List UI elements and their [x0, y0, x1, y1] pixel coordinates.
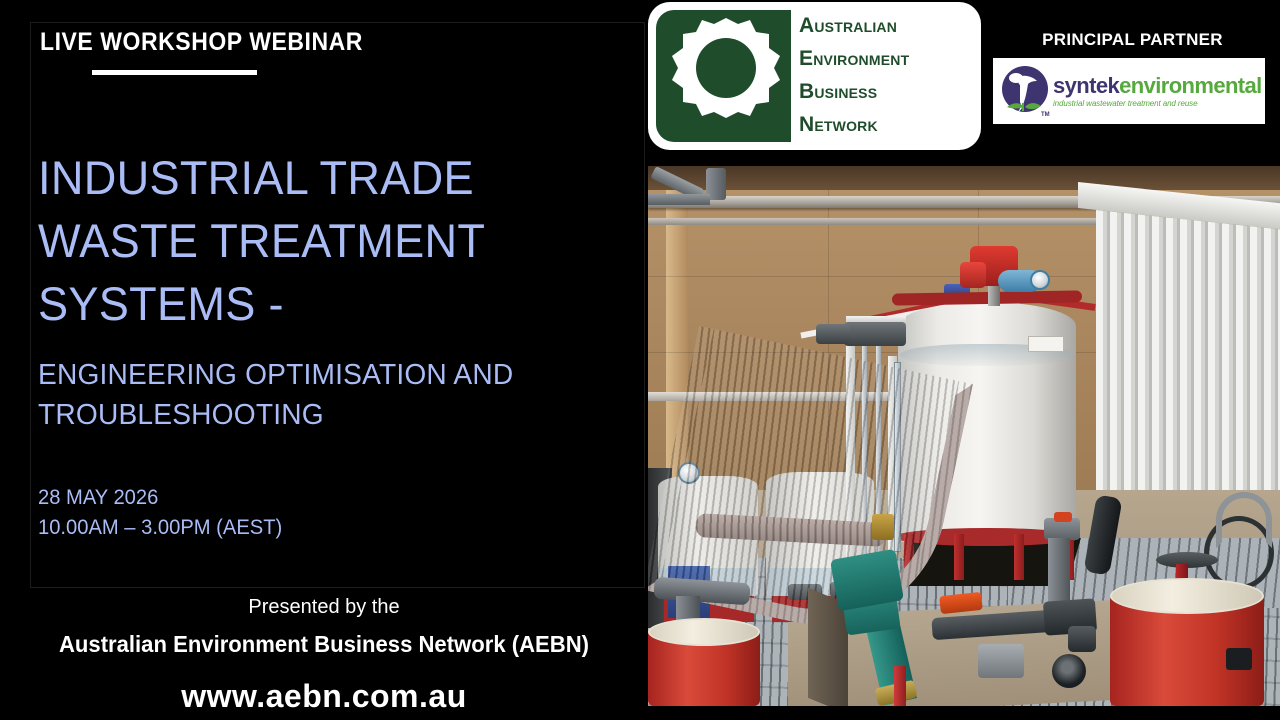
photo-valve-stand — [978, 644, 1024, 678]
aebn-word-environment: ENVIRONMENT — [799, 43, 973, 76]
trademark-mark: TM — [1041, 112, 1050, 118]
syntek-word-syntek: syntek — [1053, 73, 1119, 98]
aebn-rest-business: USINESS — [814, 85, 877, 101]
aebn-cap-b: B — [799, 80, 814, 103]
kicker-underline-rule — [92, 70, 257, 75]
photo-barrel-lid — [1110, 578, 1264, 614]
aebn-logo: AUSTRALIAN ENVIRONMENT BUSINESS NETWORK — [648, 2, 981, 150]
syntek-environmental-logo: TM syntekenvironmental industrial wastew… — [993, 58, 1265, 124]
gear-icon — [670, 12, 782, 142]
aebn-word-business: BUSINESS — [799, 76, 973, 109]
photo-manifold-valve — [1068, 626, 1096, 652]
page-title: INDUSTRIAL TRADE WASTE TREATMENT SYSTEMS… — [38, 146, 585, 335]
event-date: 28 MAY 2026 — [38, 483, 282, 513]
treatment-plant-photo — [648, 166, 1280, 706]
photo-mixer-shaft — [988, 284, 1000, 306]
syntek-word-environmental: environmental — [1119, 73, 1262, 98]
photo-hand-wheel — [1052, 654, 1086, 688]
title-line-1: INDUSTRIAL TRADE — [38, 146, 585, 209]
syntek-name-row: syntekenvironmental — [1053, 74, 1262, 98]
photo-barrel-lid — [648, 618, 760, 646]
aebn-word-network: NETWORK — [799, 109, 973, 142]
photo-cart-handle — [1216, 492, 1272, 548]
photo-valve-body — [816, 324, 850, 344]
photo-outlet-valve-handle — [1054, 512, 1072, 522]
aebn-wordmark: AUSTRALIAN ENVIRONMENT BUSINESS NETWORK — [791, 10, 973, 142]
photo-tank-nameplate — [1028, 336, 1064, 352]
photo-red-post — [894, 666, 906, 706]
title-line-3: SYSTEMS - — [38, 272, 585, 335]
photo-overhead-pipe — [648, 194, 710, 205]
title-line-2: WASTE TREATMENT — [38, 209, 585, 272]
aebn-word-australian: AUSTRALIAN — [799, 10, 973, 43]
event-time: 10.00AM – 3.00PM (AEST) — [38, 513, 282, 543]
aebn-rest-australian: USTRALIAN — [814, 19, 897, 35]
subtitle-line-1: ENGINEERING OPTIMISATION AND — [38, 355, 596, 395]
photo-flow-meter-dial — [1030, 270, 1050, 290]
footer: Presented by the Australian Environment … — [0, 588, 648, 720]
ibis-in-circle-icon — [999, 63, 1051, 119]
aebn-cap-a: A — [799, 14, 814, 37]
aebn-gear-badge — [656, 10, 791, 142]
syntek-bird-icon: TM — [999, 63, 1051, 119]
event-datetime: 28 MAY 2026 10.00AM – 3.00PM (AEST) — [38, 483, 282, 543]
photo-barrel-clamp — [1226, 648, 1252, 670]
aebn-cap-n: N — [799, 113, 814, 136]
footer-presented-by: Presented by the — [0, 596, 648, 619]
left-content-panel: LIVE WORKSHOP WEBINAR INDUSTRIAL TRADE W… — [0, 0, 648, 720]
page-subtitle: ENGINEERING OPTIMISATION AND TROUBLESHOO… — [38, 355, 596, 435]
syntek-wordmark: syntekenvironmental industrial wastewate… — [1051, 74, 1262, 109]
principal-partner-block: PRINCIPAL PARTNER TM syntekenvironmental… — [985, 0, 1280, 150]
kicker-label: LIVE WORKSHOP WEBINAR — [40, 28, 363, 57]
aebn-cap-e: E — [799, 47, 813, 70]
photo-mixer-gearbox — [960, 262, 986, 288]
aebn-rest-network: ETWORK — [814, 118, 877, 134]
photo-hose-coupling — [872, 514, 894, 540]
syntek-tagline: industrial wastewater treatment and reus… — [1053, 98, 1262, 109]
footer-website-link[interactable]: www.aebn.com.au — [0, 678, 648, 715]
slide-root: LIVE WORKSHOP WEBINAR INDUSTRIAL TRADE W… — [0, 0, 1280, 720]
footer-organisation: Australian Environment Business Network … — [13, 631, 635, 658]
subtitle-line-2: TROUBLESHOOTING — [38, 395, 596, 435]
photo-butterfly-valve — [844, 322, 906, 346]
principal-partner-label: PRINCIPAL PARTNER — [985, 30, 1280, 50]
photo-tank-leg — [954, 534, 964, 580]
photo-tank-leg — [1014, 534, 1024, 580]
aebn-rest-environment: NVIRONMENT — [813, 52, 909, 68]
photo-ceiling-shadow — [648, 166, 1280, 190]
